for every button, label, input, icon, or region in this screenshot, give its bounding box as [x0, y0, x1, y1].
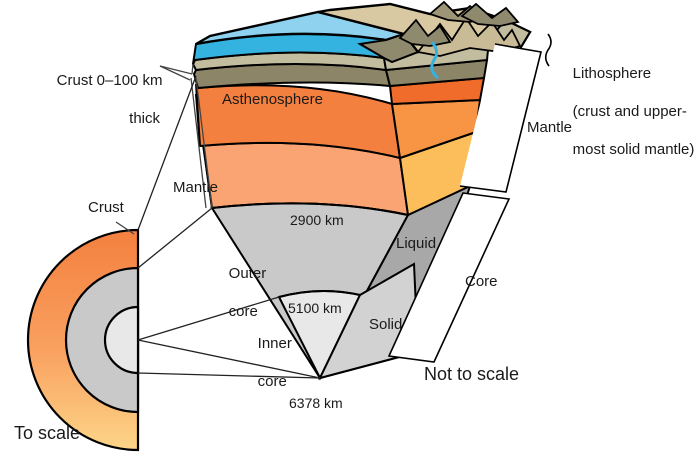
earth-cross-section-diagram: Crust 0–100 km thick Asthenosphere Mantl… [0, 0, 698, 457]
core-label: Core [465, 272, 498, 291]
liquid-label: Liquid [396, 234, 436, 253]
lithosphere-label: Lithosphere (crust and upper- most solid… [556, 45, 694, 178]
asthenosphere-label: Asthenosphere [222, 90, 323, 109]
depth-6378km-label: 6378 km [289, 394, 343, 413]
depth-2900km-label: 2900 km [290, 211, 344, 230]
to-scale-inset [28, 222, 138, 450]
inset-crust-label: Crust [88, 198, 124, 217]
not-to-scale-label: Not to scale [424, 365, 519, 384]
to-scale-label: To scale [14, 424, 80, 443]
solid-label: Solid [369, 315, 402, 334]
inner-core-label: Inner core [241, 315, 292, 410]
crust-thickness-label: Crust 0–100 km thick [40, 52, 160, 147]
mantle-left-label: Mantle [173, 178, 218, 197]
depth-5100km-label: 5100 km [288, 299, 342, 318]
lithosphere-brace [546, 34, 551, 66]
